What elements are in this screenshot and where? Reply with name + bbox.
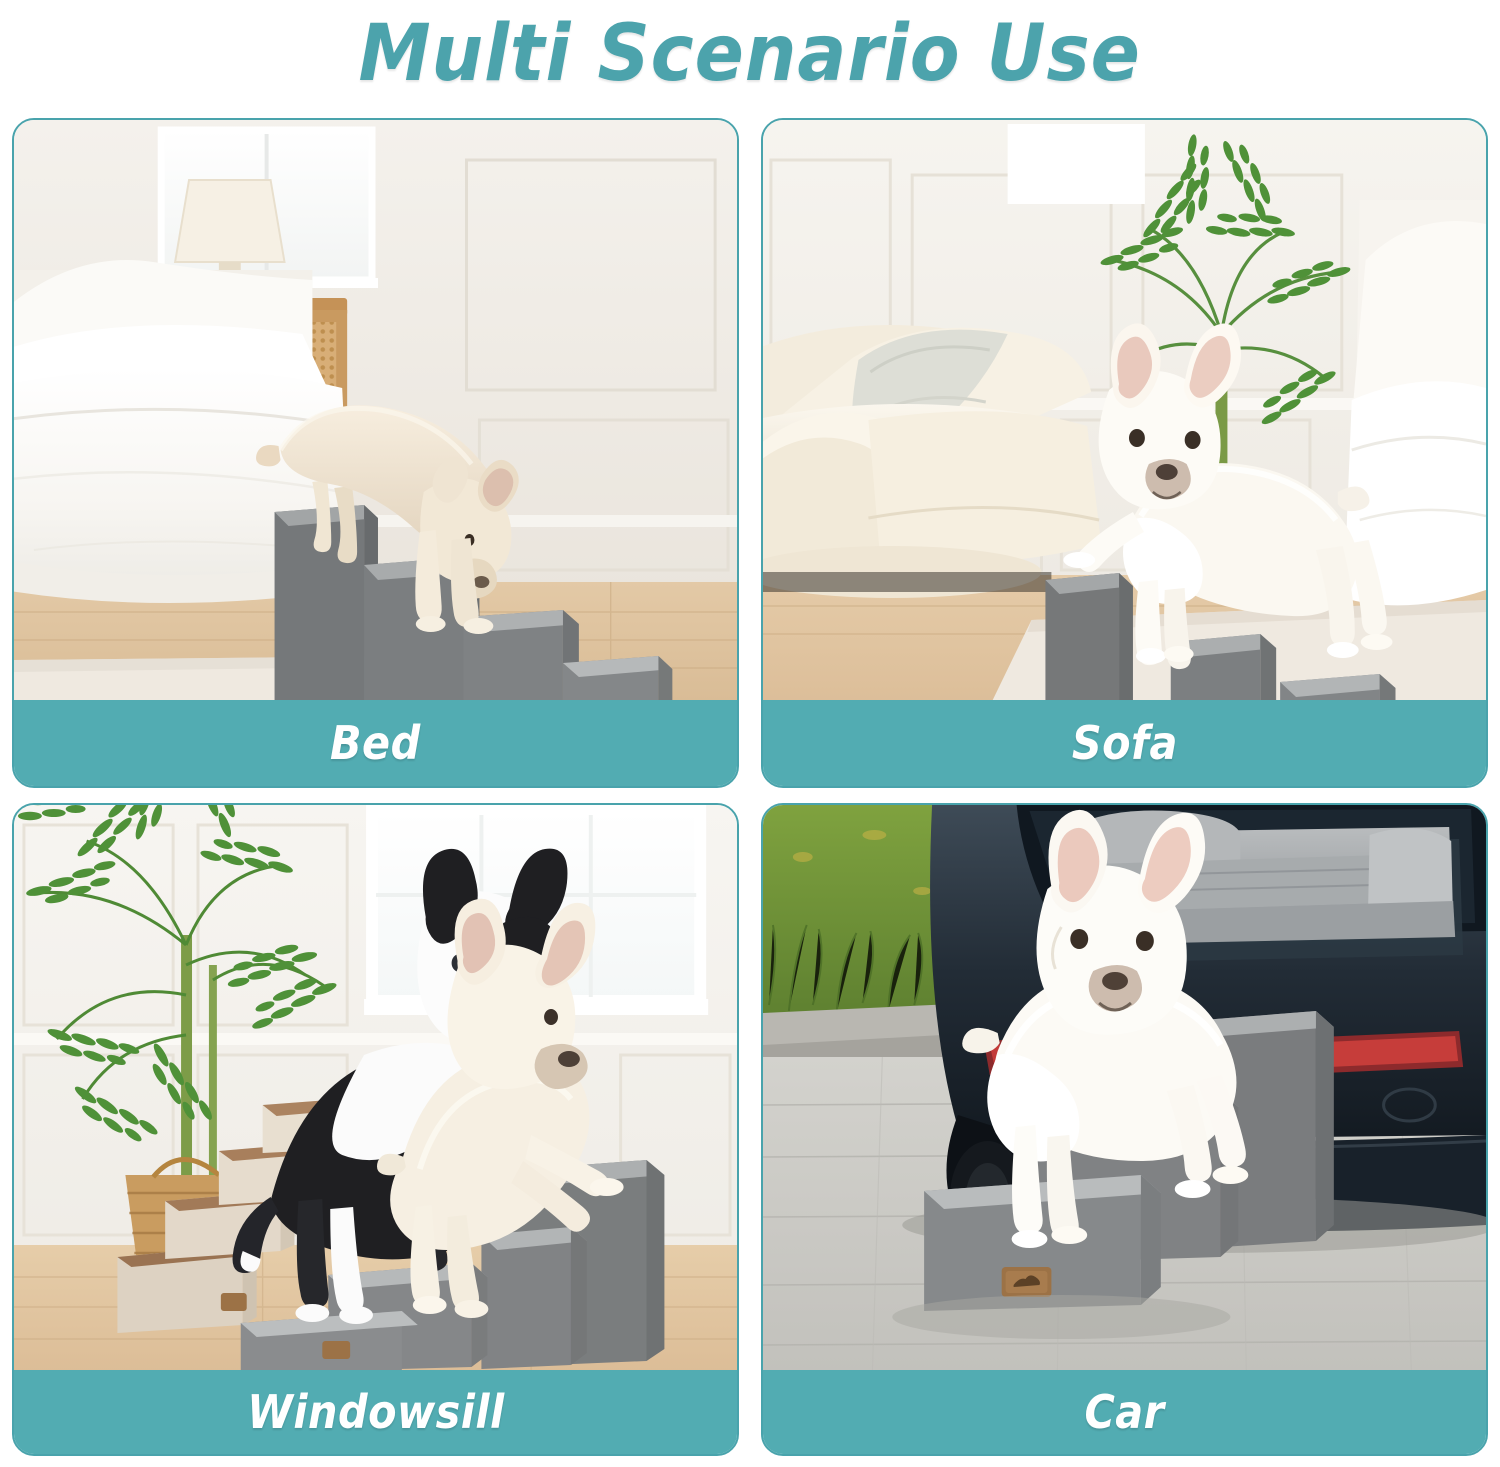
label-bar-car: Car [763,1370,1486,1454]
page-title-container: Multi Scenario Use [0,0,1500,108]
label-bar-sofa: Sofa [763,700,1486,786]
scenario-grid: Bed [12,118,1488,1456]
scenario-label-windowsill: Windowsill [247,1385,504,1439]
sofa-scene-photo [763,120,1486,702]
bed-scene-photo [14,120,737,702]
car-scene-illustration [763,805,1486,1372]
page-title: Multi Scenario Use [359,15,1141,93]
infographic-page: Multi Scenario Use [0,0,1500,1467]
scenario-card-bed[interactable]: Bed [12,118,739,788]
sofa-scene-illustration [763,120,1486,702]
label-bar-bed: Bed [14,700,737,786]
scenario-card-sofa[interactable]: Sofa [761,118,1488,788]
label-bar-windowsill: Windowsill [14,1370,737,1454]
windowsill-scene-illustration [14,805,737,1372]
car-scene-photo [763,805,1486,1372]
scenario-card-car[interactable]: Car [761,803,1488,1456]
scenario-label-bed: Bed [330,716,421,770]
scenario-card-windowsill[interactable]: Windowsill [12,803,739,1456]
windowsill-scene-photo [14,805,737,1372]
scenario-label-car: Car [1084,1385,1164,1439]
scenario-label-sofa: Sofa [1071,716,1177,770]
bed-scene-illustration [14,120,737,702]
